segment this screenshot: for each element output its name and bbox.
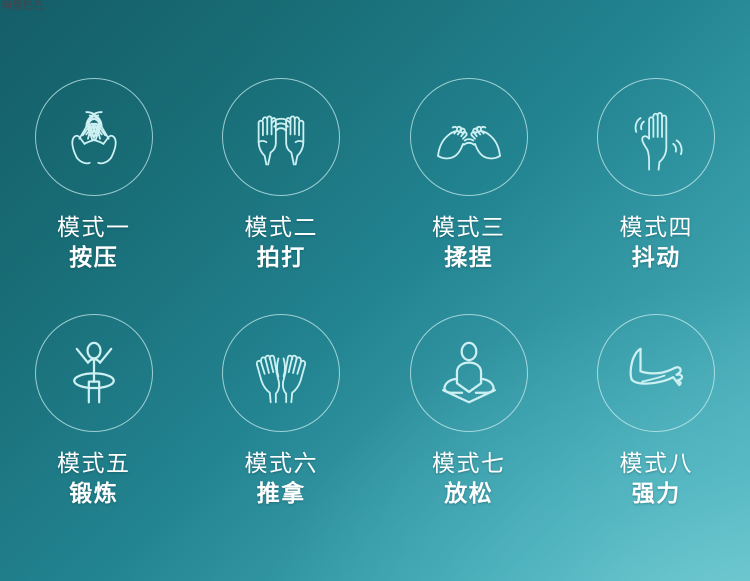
mode-icon-circle-3[interactable] bbox=[410, 78, 528, 196]
mode-card-2[interactable]: 模式二 拍打 bbox=[188, 78, 376, 314]
mode-icon-circle-1[interactable] bbox=[35, 78, 153, 196]
mode-title-6: 模式六 bbox=[245, 449, 319, 478]
single-hand-shaking-icon bbox=[613, 94, 699, 180]
mode-card-5[interactable]: 模式五 锻炼 bbox=[0, 314, 188, 550]
mode-title-8: 模式八 bbox=[620, 449, 694, 478]
mode-grid: 模式一 按压 bbox=[0, 0, 750, 581]
mode-card-7[interactable]: 模式七 放松 bbox=[375, 314, 563, 550]
mode-card-4[interactable]: 模式四 抖动 bbox=[563, 78, 750, 314]
two-hands-pressing-icon bbox=[51, 94, 137, 180]
mode-labels-7: 模式七 放松 bbox=[432, 449, 506, 508]
mode-icon-circle-6[interactable] bbox=[222, 314, 340, 432]
mode-icon-circle-7[interactable] bbox=[410, 314, 528, 432]
mode-labels-8: 模式八 强力 bbox=[620, 449, 694, 508]
mode-labels-1: 模式一 按压 bbox=[57, 213, 131, 272]
two-hands-kneading-icon bbox=[426, 94, 512, 180]
mode-poster: 阿里巴巴 bbox=[0, 0, 750, 581]
flexed-arm-muscle-icon bbox=[613, 330, 699, 416]
mode-title-2: 模式二 bbox=[245, 213, 319, 242]
mode-title-1: 模式一 bbox=[57, 213, 131, 242]
mode-title-5: 模式五 bbox=[57, 449, 131, 478]
mode-name-5: 锻炼 bbox=[57, 478, 131, 508]
mode-icon-circle-4[interactable] bbox=[597, 78, 715, 196]
mode-name-1: 按压 bbox=[57, 242, 131, 272]
mode-name-6: 推拿 bbox=[245, 478, 319, 508]
mode-labels-3: 模式三 揉捏 bbox=[432, 213, 506, 272]
mode-icon-circle-2[interactable] bbox=[222, 78, 340, 196]
mode-name-8: 强力 bbox=[620, 478, 694, 508]
two-hands-tuina-icon bbox=[238, 330, 324, 416]
mode-icon-circle-5[interactable] bbox=[35, 314, 153, 432]
meditating-person-icon bbox=[426, 330, 512, 416]
mode-card-6[interactable]: 模式六 推拿 bbox=[188, 314, 376, 550]
mode-title-4: 模式四 bbox=[620, 213, 694, 242]
mode-card-3[interactable]: 模式三 揉捏 bbox=[375, 78, 563, 314]
mode-card-8[interactable]: 模式八 强力 bbox=[563, 314, 750, 550]
mode-labels-5: 模式五 锻炼 bbox=[57, 449, 131, 508]
mode-name-7: 放松 bbox=[432, 478, 506, 508]
mode-name-3: 揉捏 bbox=[432, 242, 506, 272]
mode-icon-circle-8[interactable] bbox=[597, 314, 715, 432]
person-exercising-hoop-icon bbox=[51, 330, 137, 416]
mode-name-4: 抖动 bbox=[620, 242, 694, 272]
two-palms-patting-icon bbox=[238, 94, 324, 180]
mode-labels-4: 模式四 抖动 bbox=[620, 213, 694, 272]
mode-card-1[interactable]: 模式一 按压 bbox=[0, 78, 188, 314]
mode-labels-2: 模式二 拍打 bbox=[245, 213, 319, 272]
mode-name-2: 拍打 bbox=[245, 242, 319, 272]
mode-title-7: 模式七 bbox=[432, 449, 506, 478]
mode-title-3: 模式三 bbox=[432, 213, 506, 242]
mode-labels-6: 模式六 推拿 bbox=[245, 449, 319, 508]
